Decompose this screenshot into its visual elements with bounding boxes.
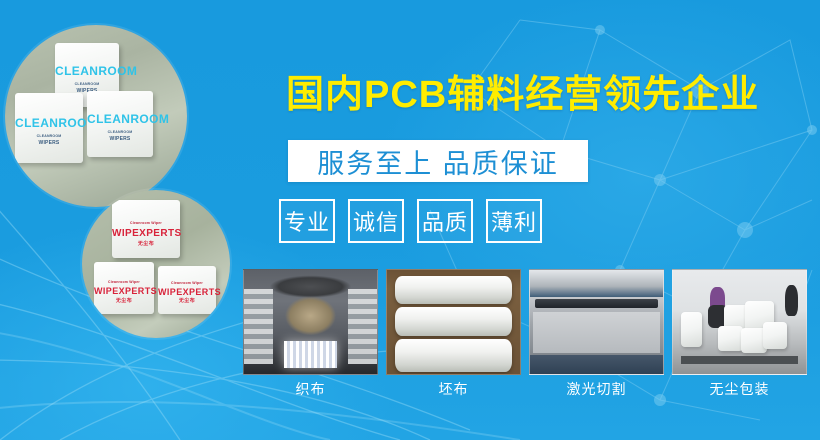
pack-brand-label: WIPEXPERTS	[158, 288, 216, 297]
product-circle-wipexperts: Cleanroom Wiper WIPEXPERTS 无尘布 Cleanroom…	[82, 190, 230, 338]
process-item-cleanroom-packaging: 无尘包装	[672, 269, 807, 396]
pack-subline-1: CLEANROOM	[87, 131, 153, 135]
process-caption: 无尘包装	[672, 382, 807, 396]
process-caption: 织布	[243, 382, 378, 396]
banner-subtitle-text: 服务至上 品质保证	[317, 142, 559, 181]
keyword-badge-integrity: 诚信	[348, 199, 404, 243]
weaving-machine-photo	[243, 269, 378, 375]
pack-subline-2: 无尘布	[112, 242, 180, 247]
keyword-badge-low-margin: 薄利	[486, 199, 542, 243]
process-caption: 坯布	[386, 382, 521, 396]
keyword-badge-professional: 专业	[279, 199, 335, 243]
banner-subtitle-bar: 服务至上 品质保证	[288, 140, 588, 182]
pack-subline-2: 无尘布	[158, 299, 216, 304]
pack-brand-label: WIPEXPERTS	[112, 229, 180, 239]
process-item-laser-cutting: 激光切割	[529, 269, 664, 396]
keyword-badge-group: 专业 诚信 品质 薄利	[279, 199, 542, 243]
pack-subline-1: CLEANROOM	[15, 135, 83, 139]
process-item-greige-fabric: 坯布	[386, 269, 521, 396]
knit-fabric-output	[284, 341, 337, 368]
cleanroom-packaging-photo	[672, 269, 807, 375]
product-circle-cleanroom: CLEANROOM CLEANROOM WIPERS CLEANROOM CLE…	[5, 25, 187, 207]
pack-subline-2: WIPERS	[87, 137, 153, 142]
pack-subline-1: Cleanroom Wiper	[112, 222, 180, 226]
process-caption: 激光切割	[529, 382, 664, 396]
pack-subline-2: 无尘布	[94, 299, 154, 304]
process-item-weaving: 织布	[243, 269, 378, 396]
laser-cutting-machine-photo	[529, 269, 664, 375]
banner-headline: 国内PCB辅料经营领先企业	[286, 76, 759, 114]
pack-brand-label: CLEANROOM	[15, 117, 83, 129]
pack-brand-label: CLEANROOM	[87, 113, 153, 125]
pack-subline-2: WIPERS	[15, 141, 83, 146]
fabric-rolls-photo	[386, 269, 521, 375]
wipexperts-product-photo: Cleanroom Wiper WIPEXPERTS 无尘布 Cleanroom…	[82, 190, 230, 338]
pack-subline-1: Cleanroom Wiper	[94, 281, 154, 285]
process-photo-strip: 织布 坯布 激光切割	[243, 269, 807, 396]
cleanroom-product-photo: CLEANROOM CLEANROOM WIPERS CLEANROOM CLE…	[5, 25, 187, 207]
keyword-badge-quality: 品质	[417, 199, 473, 243]
pack-subline-1: CLEANROOM	[55, 83, 119, 87]
pack-brand-label: WIPEXPERTS	[94, 287, 154, 296]
promotional-banner: CLEANROOM CLEANROOM WIPERS CLEANROOM CLE…	[0, 0, 820, 440]
pack-subline-1: Cleanroom Wiper	[158, 282, 216, 286]
pack-brand-label: CLEANROOM	[55, 65, 119, 77]
